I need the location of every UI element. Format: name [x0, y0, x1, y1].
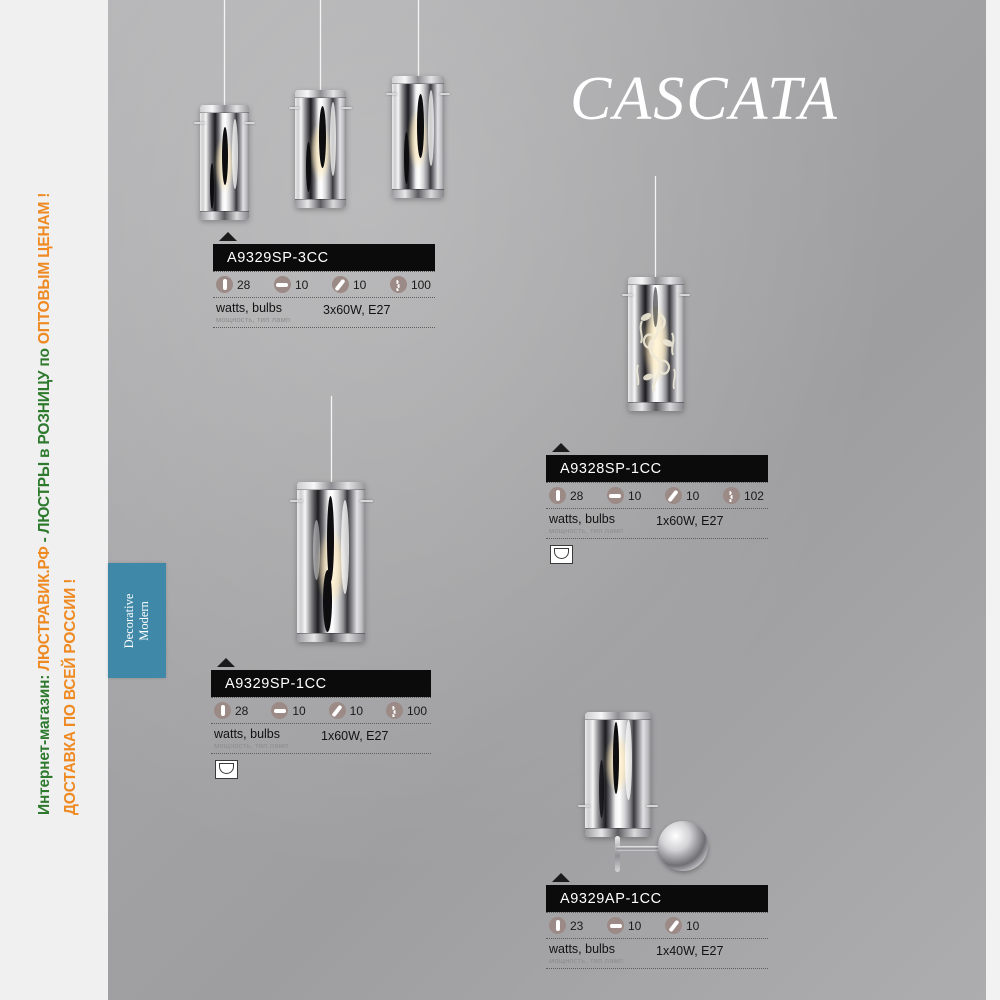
- suspension-cord: [331, 396, 332, 484]
- shade-pin: [194, 122, 205, 124]
- watts-value: 1x40W, E27: [656, 944, 723, 958]
- sconce-wall-plate: [658, 821, 708, 871]
- spec-item: 10: [332, 276, 386, 293]
- shade-pin: [622, 294, 633, 296]
- caret-up-icon: [217, 658, 235, 667]
- height-icon: [549, 487, 566, 504]
- category-tab-line-2: Modern: [137, 601, 151, 641]
- shade-pin: [289, 107, 300, 109]
- watts-label-ru: мощность, тип ламп: [549, 526, 623, 535]
- spec-item: 102: [723, 487, 764, 504]
- length-icon: [665, 487, 682, 504]
- watts-label-en: watts, bulbs: [549, 513, 623, 525]
- spec-item: 100: [390, 276, 431, 293]
- height-icon: [216, 276, 233, 293]
- watts-label-ru: мощность, тип ламп: [214, 741, 288, 750]
- diameter-icon: [274, 276, 291, 293]
- product-code: A9329SP-3CC: [227, 250, 329, 266]
- spec-row: 281010102: [546, 483, 768, 508]
- shade-pin: [290, 500, 303, 502]
- watts-label-ru: мощность, тип ламп: [216, 315, 290, 324]
- cord-length-icon: [390, 276, 407, 293]
- watts-row: watts, bulbsмощность, тип ламп3x60W, E27: [213, 298, 435, 327]
- shade-pin: [439, 93, 450, 95]
- spec-value: 102: [744, 489, 764, 503]
- watts-label: watts, bulbsмощность, тип ламп: [216, 302, 290, 324]
- category-tab-line-1: Decorative: [122, 593, 136, 648]
- suspension-cord: [655, 176, 656, 279]
- spec-item: 10: [665, 917, 699, 934]
- page-title: CASCATA: [570, 68, 839, 130]
- product-code: A9329AP-1CC: [560, 891, 662, 907]
- product-code-bar: A9328SP-1CC: [546, 455, 768, 482]
- banner-brand: ЛЮСТРАВИК.РФ: [36, 547, 53, 671]
- banner-prefix: Интернет-магазин:: [36, 671, 53, 815]
- shade-pin: [341, 107, 352, 109]
- lamp-shade: [392, 76, 444, 198]
- suspension-cord: [224, 0, 225, 108]
- spec-item: 10: [329, 702, 382, 719]
- spec-card-0: A9329SP-3CC281010100watts, bulbsмощность…: [213, 232, 435, 328]
- shade-pin: [578, 805, 590, 807]
- lamp-shade: [297, 482, 365, 642]
- spec-value: 28: [235, 704, 248, 718]
- spec-item: 28: [216, 276, 270, 293]
- spec-value: 10: [292, 704, 305, 718]
- shade-pin: [386, 93, 397, 95]
- right-margin: [986, 0, 1000, 1000]
- watts-value: 1x60W, E27: [656, 514, 723, 528]
- banner-line-2: ДОСТАВКА ПО ВСЕЙ РОССИИ !: [62, 579, 80, 815]
- shade-pin: [646, 805, 658, 807]
- diameter-icon: [271, 702, 288, 719]
- spec-value: 10: [353, 278, 366, 292]
- sconce-stem: [615, 836, 620, 872]
- watts-label-ru: мощность, тип ламп: [549, 956, 623, 965]
- spec-item: 10: [665, 487, 719, 504]
- banner-line-1: Интернет-магазин: ЛЮСТРАВИК.РФ - ЛЮСТРЫ …: [36, 193, 54, 815]
- caret-up-icon: [552, 873, 570, 882]
- spec-item: 10: [271, 702, 324, 719]
- watts-row: watts, bulbsмощность, тип ламп1x60W, E27: [546, 509, 768, 538]
- length-icon: [332, 276, 349, 293]
- length-icon: [665, 917, 682, 934]
- lamp-shade: [628, 277, 684, 411]
- lamp-shade: [585, 712, 651, 837]
- spec-value: 10: [350, 704, 363, 718]
- lamp-icon-row: [211, 754, 431, 784]
- caret-up-icon: [219, 232, 237, 241]
- height-icon: [214, 702, 231, 719]
- spec-value: 23: [570, 919, 583, 933]
- spec-item: 10: [607, 487, 661, 504]
- shade-pin: [244, 122, 255, 124]
- product-code-bar: A9329AP-1CC: [546, 885, 768, 912]
- product-code: A9329SP-1CC: [225, 676, 327, 692]
- banner-mid: - ЛЮСТРЫ в РОЗНИЦУ по: [36, 344, 53, 546]
- spec-row: 231010: [546, 913, 768, 938]
- product-code-bar: A9329SP-1CC: [211, 670, 431, 697]
- spec-item: 28: [214, 702, 267, 719]
- spec-value: 10: [295, 278, 308, 292]
- watts-value: 1x60W, E27: [321, 729, 388, 743]
- spec-item: 10: [607, 917, 661, 934]
- catalog-page: ЛЮСТРАВИК.РФ ЛЮСТРАВИК.РФ ЛЮСТРАВИК.РФ Л…: [0, 0, 1000, 1000]
- spec-item: 10: [274, 276, 328, 293]
- shade-pin: [679, 294, 690, 296]
- spec-card-3: A9329AP-1CC231010watts, bulbsмощность, т…: [546, 873, 768, 969]
- watts-label-en: watts, bulbs: [214, 728, 288, 740]
- category-tab-label: Decorative Modern: [122, 593, 152, 648]
- spec-value: 10: [686, 919, 699, 933]
- spec-card-2: A9329SP-1CC281010100watts, bulbsмощность…: [211, 658, 431, 784]
- spec-value: 10: [686, 489, 699, 503]
- lamp-type-icon: [550, 545, 573, 564]
- spec-item: 28: [549, 487, 603, 504]
- spec-card-1: A9328SP-1CC281010102watts, bulbsмощность…: [546, 443, 768, 569]
- left-banner: Интернет-магазин: ЛЮСТРАВИК.РФ - ЛЮСТРЫ …: [0, 0, 108, 1000]
- watts-label-en: watts, bulbs: [549, 943, 623, 955]
- watts-label-en: watts, bulbs: [216, 302, 290, 314]
- diameter-icon: [607, 487, 624, 504]
- watts-row: watts, bulbsмощность, тип ламп1x40W, E27: [546, 939, 768, 968]
- category-tab[interactable]: Decorative Modern: [108, 563, 166, 678]
- product-code-bar: A9329SP-3CC: [213, 244, 435, 271]
- height-icon: [549, 917, 566, 934]
- spec-item: 23: [549, 917, 603, 934]
- caret-up-icon: [552, 443, 570, 452]
- lamp-type-icon: [215, 760, 238, 779]
- lamp-icon-row: [546, 539, 768, 569]
- lamp-shade: [295, 90, 346, 208]
- watts-label: watts, bulbsмощность, тип ламп: [549, 943, 623, 965]
- spec-value: 100: [411, 278, 431, 292]
- length-icon: [329, 702, 346, 719]
- suspension-cord: [418, 0, 419, 78]
- lamp-shade: [200, 105, 249, 220]
- divider: [213, 327, 435, 328]
- banner-accent: ОПТОВЫМ ЦЕНАМ !: [36, 193, 53, 344]
- watts-value: 3x60W, E27: [323, 303, 390, 317]
- watts-label: watts, bulbsмощность, тип ламп: [549, 513, 623, 535]
- divider: [546, 968, 768, 969]
- spec-item: 100: [386, 702, 427, 719]
- spec-value: 10: [628, 919, 641, 933]
- cord-length-icon: [386, 702, 403, 719]
- suspension-cord: [320, 0, 321, 92]
- watts-row: watts, bulbsмощность, тип ламп1x60W, E27: [211, 724, 431, 753]
- watts-label: watts, bulbsмощность, тип ламп: [214, 728, 288, 750]
- cord-length-icon: [723, 487, 740, 504]
- spec-row: 281010100: [211, 698, 431, 723]
- spec-row: 281010100: [213, 272, 435, 297]
- spec-value: 28: [237, 278, 250, 292]
- product-code: A9328SP-1CC: [560, 461, 662, 477]
- spec-value: 28: [570, 489, 583, 503]
- diameter-icon: [607, 917, 624, 934]
- shade-pin: [360, 500, 373, 502]
- spec-value: 10: [628, 489, 641, 503]
- spec-value: 100: [407, 704, 427, 718]
